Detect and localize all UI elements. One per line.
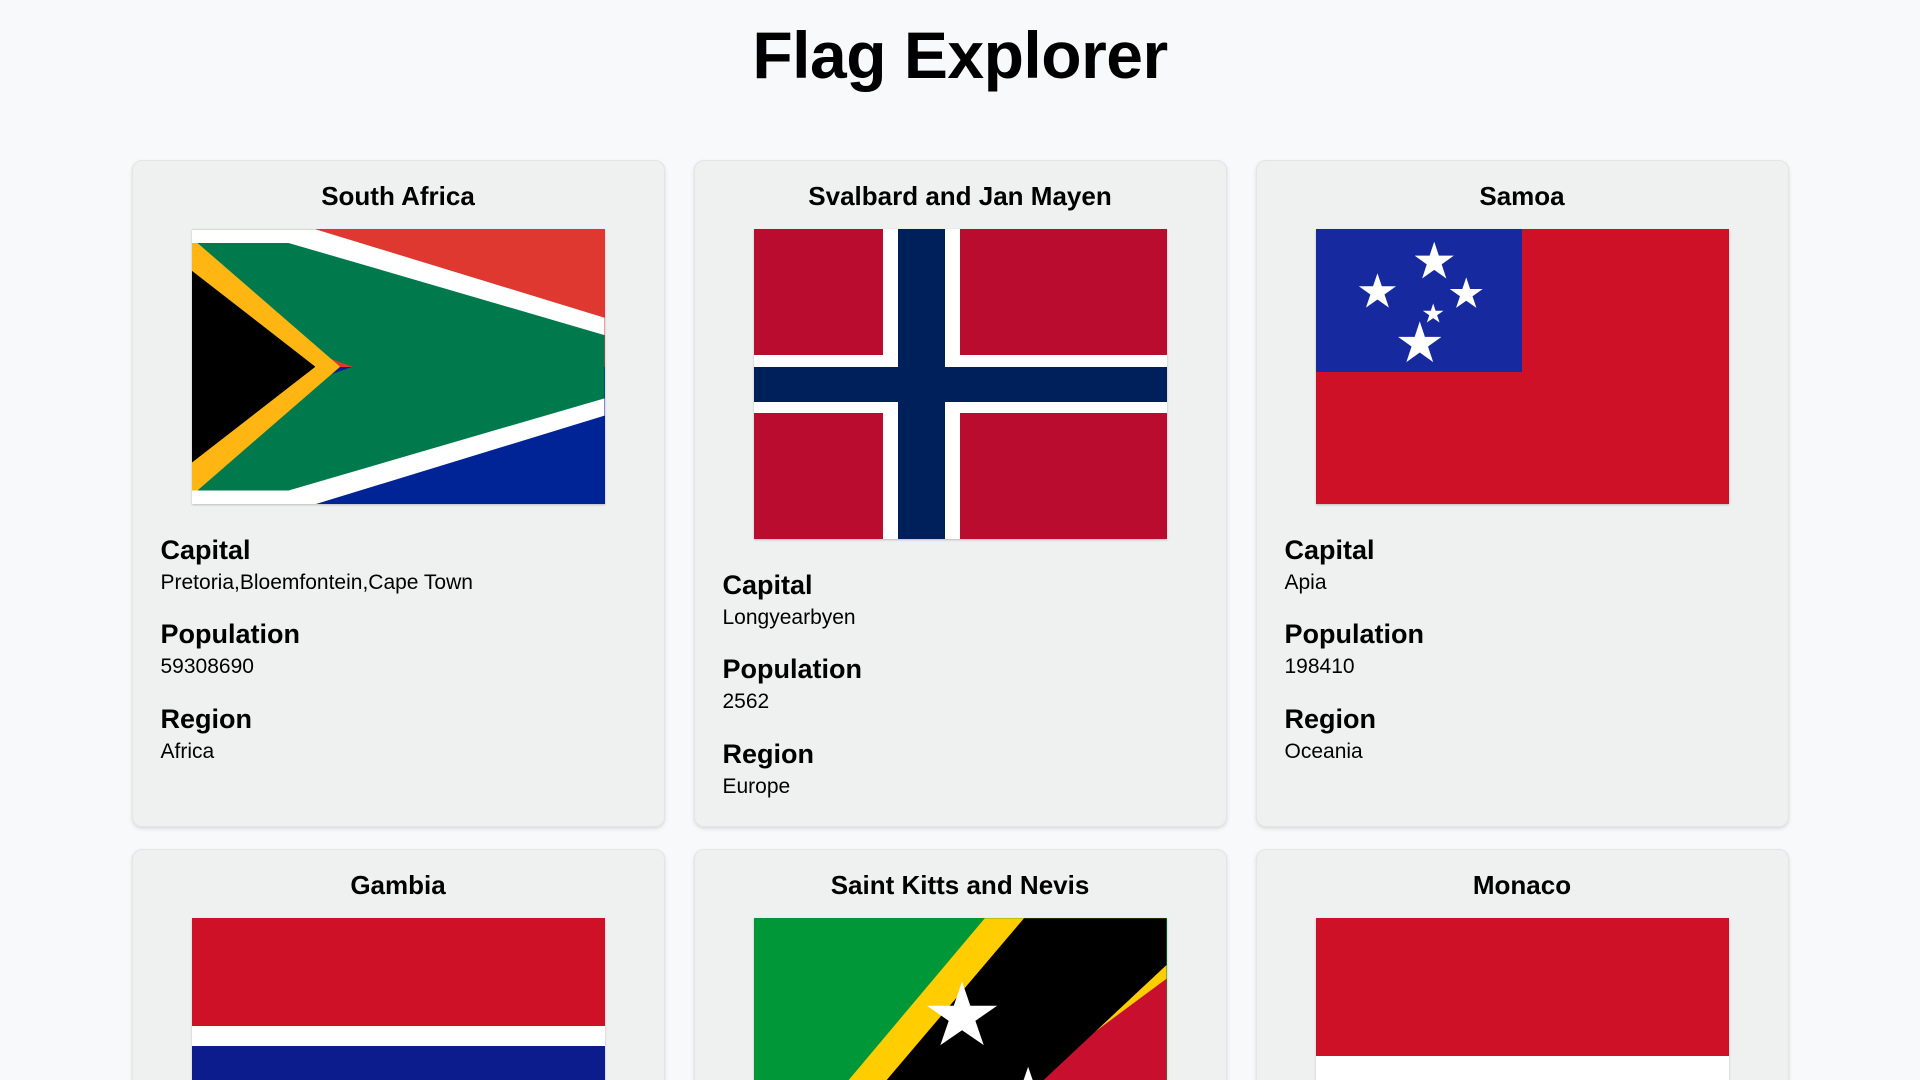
- capital-label: Capital: [723, 569, 1198, 602]
- capital-label: Capital: [1285, 534, 1760, 567]
- country-name: Monaco: [1285, 870, 1760, 901]
- flag-wrapper: [1285, 918, 1760, 1080]
- flag-card-south-africa[interactable]: South Africa Capital Pretoria,Bloemfonte…: [132, 160, 665, 827]
- capital-field: Capital Longyearbyen: [723, 569, 1198, 631]
- capital-field: Capital Apia: [1285, 534, 1760, 596]
- region-label: Region: [161, 703, 636, 736]
- region-value: Africa: [161, 738, 636, 765]
- flag-card-gambia[interactable]: Gambia Capital Banjul Population 241666: [132, 849, 665, 1080]
- region-field: Region Africa: [161, 703, 636, 765]
- flag-wrapper: [1285, 229, 1760, 504]
- flag-wrapper: [723, 918, 1198, 1080]
- flag-wrapper: [161, 918, 636, 1080]
- monaco-flag-icon: [1316, 918, 1729, 1080]
- south-africa-flag-icon: [192, 229, 605, 504]
- flag-card-svalbard-and-jan-mayen[interactable]: Svalbard and Jan Mayen Capital Longyearb…: [694, 160, 1227, 827]
- capital-field: Capital Pretoria,Bloemfontein,Cape Town: [161, 534, 636, 596]
- country-details: Capital Longyearbyen Population 2562 Reg…: [723, 569, 1198, 800]
- gambia-flag-icon: [192, 918, 605, 1080]
- region-field: Region Oceania: [1285, 703, 1760, 765]
- population-value: 2562: [723, 688, 1198, 715]
- country-details: Capital Pretoria,Bloemfontein,Cape Town …: [161, 534, 636, 765]
- samoa-flag-icon: [1316, 229, 1729, 504]
- page-title: Flag Explorer: [0, 0, 1920, 88]
- country-details: Capital Apia Population 198410 Region Oc…: [1285, 534, 1760, 765]
- capital-value: Apia: [1285, 569, 1760, 596]
- country-name: Saint Kitts and Nevis: [723, 870, 1198, 901]
- flag-explorer-page: Flag Explorer South Africa Capital Preto…: [0, 0, 1920, 1080]
- population-value: 59308690: [161, 653, 636, 680]
- flag-card-saint-kitts-and-nevis[interactable]: Saint Kitts and Nevis Capital Basseterre: [694, 849, 1227, 1080]
- region-value: Oceania: [1285, 738, 1760, 765]
- norway-flag-icon: [754, 229, 1167, 539]
- region-value: Europe: [723, 773, 1198, 800]
- country-name: Svalbard and Jan Mayen: [723, 181, 1198, 212]
- population-field: Population 2562: [723, 653, 1198, 715]
- capital-label: Capital: [161, 534, 636, 567]
- capital-value: Pretoria,Bloemfontein,Cape Town: [161, 569, 636, 596]
- country-name: Samoa: [1285, 181, 1760, 212]
- population-field: Population 198410: [1285, 618, 1760, 680]
- population-label: Population: [1285, 618, 1760, 651]
- population-value: 198410: [1285, 653, 1760, 680]
- population-label: Population: [723, 653, 1198, 686]
- flag-wrapper: [161, 229, 636, 504]
- country-name: South Africa: [161, 181, 636, 212]
- saint-kitts-and-nevis-flag-icon: [754, 918, 1167, 1080]
- population-field: Population 59308690: [161, 618, 636, 680]
- region-label: Region: [723, 738, 1198, 771]
- capital-value: Longyearbyen: [723, 604, 1198, 631]
- flag-wrapper: [723, 229, 1198, 539]
- flag-card-grid: South Africa Capital Pretoria,Bloemfonte…: [0, 160, 1920, 1080]
- flag-card-samoa[interactable]: Samoa Capital Apia Population: [1256, 160, 1789, 827]
- region-label: Region: [1285, 703, 1760, 736]
- region-field: Region Europe: [723, 738, 1198, 800]
- country-name: Gambia: [161, 870, 636, 901]
- flag-card-monaco[interactable]: Monaco Capital Monaco Population 39244 R…: [1256, 849, 1789, 1080]
- population-label: Population: [161, 618, 636, 651]
